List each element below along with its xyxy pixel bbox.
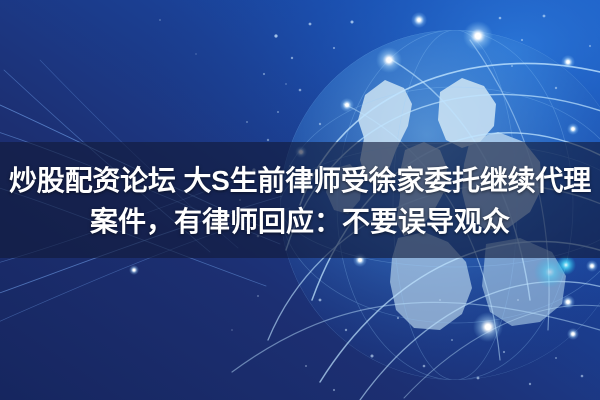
headline-line-2: 案件，有律师回应：不要误导观众 (0, 201, 600, 242)
page-title: 炒股配资论坛 大S生前律师受徐家委托继续代理 案件，有律师回应：不要误导观众 (0, 160, 600, 242)
banner-image: 炒股配资论坛 大S生前律师受徐家委托继续代理 案件，有律师回应：不要误导观众 (0, 0, 600, 400)
headline-line-1: 炒股配资论坛 大S生前律师受徐家委托继续代理 (0, 160, 600, 201)
